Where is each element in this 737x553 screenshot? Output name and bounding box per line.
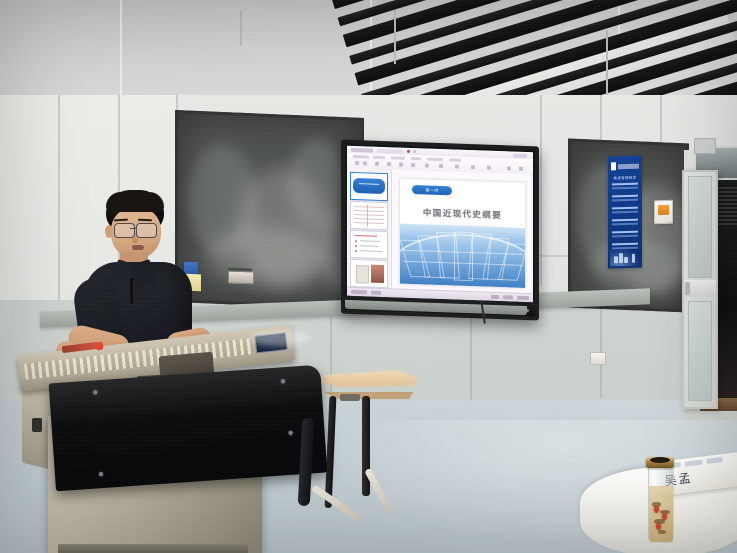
slide-lattice-artwork bbox=[400, 224, 525, 288]
smoke-detector-box bbox=[694, 138, 716, 154]
ear bbox=[105, 225, 113, 238]
door-leaf[interactable] bbox=[682, 170, 718, 409]
round-discussion-table: 吴孟 bbox=[580, 455, 737, 553]
display-screen[interactable]: 第一讲 中国近现代史纲要 社会主义革命和建设的开展 ——历史和人民为什么选择社会… bbox=[347, 146, 533, 302]
teaching-podium[interactable] bbox=[10, 330, 330, 553]
podium-lock[interactable] bbox=[32, 418, 42, 432]
red-pointer-cap bbox=[96, 342, 104, 351]
door-handle[interactable] bbox=[685, 282, 690, 295]
side-table bbox=[318, 370, 428, 553]
light-switch-key[interactable] bbox=[658, 205, 669, 215]
podium-open-lid[interactable] bbox=[49, 365, 328, 492]
list-item[interactable] bbox=[350, 259, 388, 288]
poster-footer-graphic bbox=[610, 248, 640, 267]
corridor-grille bbox=[716, 185, 737, 225]
board-eraser[interactable] bbox=[228, 271, 254, 285]
hair-fringe bbox=[106, 192, 164, 212]
list-item[interactable] bbox=[350, 201, 388, 230]
glasses-bridge bbox=[130, 228, 136, 229]
poster-logo-icon bbox=[611, 162, 616, 170]
glasses-lens-right bbox=[136, 223, 157, 238]
poster-brand-bar bbox=[618, 163, 639, 169]
wall-power-outlet[interactable] bbox=[590, 352, 606, 365]
wall-notice-poster: 教室管理规定 bbox=[608, 156, 642, 269]
slide-course-title: 中国近现代史纲要 bbox=[400, 206, 525, 222]
shirt-placket bbox=[130, 278, 133, 304]
tea-tumbler[interactable] bbox=[648, 461, 674, 543]
tumbler-mouth bbox=[650, 457, 670, 463]
tea-liquid bbox=[649, 486, 673, 542]
smart-interactive-display[interactable]: 第一讲 中国近现代史纲要 社会主义革命和建设的开展 ——历史和人民为什么选择社会… bbox=[341, 140, 539, 321]
wall-switch-plate[interactable] bbox=[654, 200, 673, 225]
classroom-photo: 第一讲 中国近现代史纲要 社会主义革命和建设的开展 ——历史和人民为什么选择社会… bbox=[0, 0, 737, 553]
poster-title: 教室管理规定 bbox=[608, 175, 642, 181]
slide-section-tag: 第一讲 bbox=[412, 185, 452, 195]
nose bbox=[132, 233, 138, 243]
list-item[interactable] bbox=[350, 172, 388, 201]
side-table-bracket bbox=[340, 394, 360, 401]
podium-base bbox=[58, 544, 248, 553]
door-glass-upper bbox=[688, 176, 712, 278]
current-slide: 第一讲 中国近现代史纲要 社会主义革命和建设的开展 ——历史和人民为什么选择社会… bbox=[400, 179, 525, 288]
mouth bbox=[132, 245, 144, 250]
ppt-slide-thumbnail-panel[interactable] bbox=[347, 168, 392, 290]
door-glass-lower bbox=[688, 301, 712, 401]
poster-header bbox=[611, 160, 639, 173]
list-item[interactable] bbox=[350, 230, 388, 259]
ppt-slide-stage: 第一讲 中国近现代史纲要 社会主义革命和建设的开展 ——历史和人民为什么选择社会… bbox=[392, 169, 531, 294]
